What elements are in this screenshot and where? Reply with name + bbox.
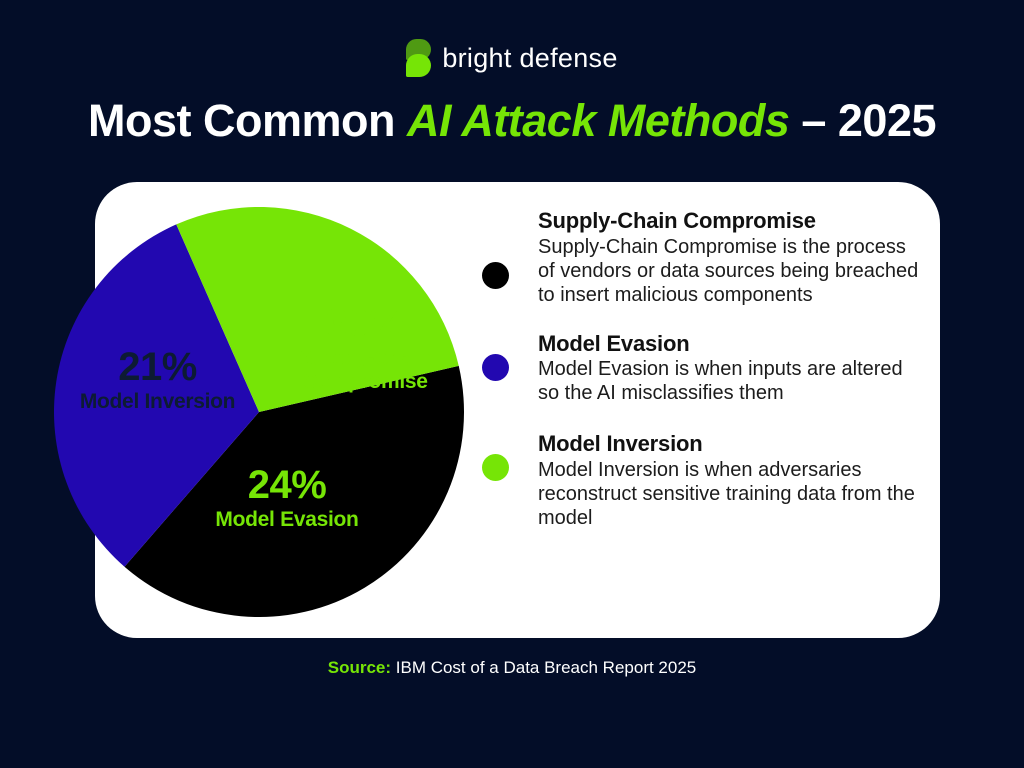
- legend-item-description: Model Inversion is when adversaries reco…: [538, 458, 922, 530]
- legend-item-supply-chain-compromise[interactable]: Supply-Chain Compromise Supply-Chain Com…: [482, 208, 922, 307]
- source-note: Source: IBM Cost of a Data Breach Report…: [0, 658, 1024, 678]
- source-text: IBM Cost of a Data Breach Report 2025: [391, 658, 696, 677]
- legend-color-dot-icon: [482, 354, 509, 381]
- legend-item-title: Model Evasion: [538, 331, 922, 357]
- pie-chart-svg: [54, 207, 464, 617]
- legend-item-title: Model Inversion: [538, 431, 922, 457]
- legend-item-model-evasion[interactable]: Model Evasion Model Evasion is when inpu…: [482, 331, 922, 406]
- page-title: Most Common AI Attack Methods – 2025: [0, 92, 1024, 150]
- title-accent: AI Attack Methods: [407, 95, 789, 146]
- brand-name: bright defense: [442, 45, 617, 72]
- legend-color-dot-icon: [482, 454, 509, 481]
- source-label: Source:: [328, 658, 391, 677]
- chart-legend: Supply-Chain Compromise Supply-Chain Com…: [482, 208, 922, 548]
- brand-header: bright defense: [0, 38, 1024, 78]
- logo-lobe-bottom: [406, 54, 431, 77]
- legend-item-description: Supply-Chain Compromise is the process o…: [538, 235, 922, 307]
- bright-defense-b-logo-icon: [406, 39, 431, 77]
- title-lead: Most Common: [88, 95, 407, 146]
- legend-item-description: Model Evasion is when inputs are altered…: [538, 357, 922, 405]
- legend-item-title: Supply-Chain Compromise: [538, 208, 922, 234]
- title-trail: – 2025: [789, 95, 936, 146]
- legend-color-dot-icon: [482, 262, 509, 289]
- pie-chart: 30% Supply-Chain Compromise 24% Model Ev…: [54, 207, 464, 617]
- legend-item-model-inversion[interactable]: Model Inversion Model Inversion is when …: [482, 431, 922, 530]
